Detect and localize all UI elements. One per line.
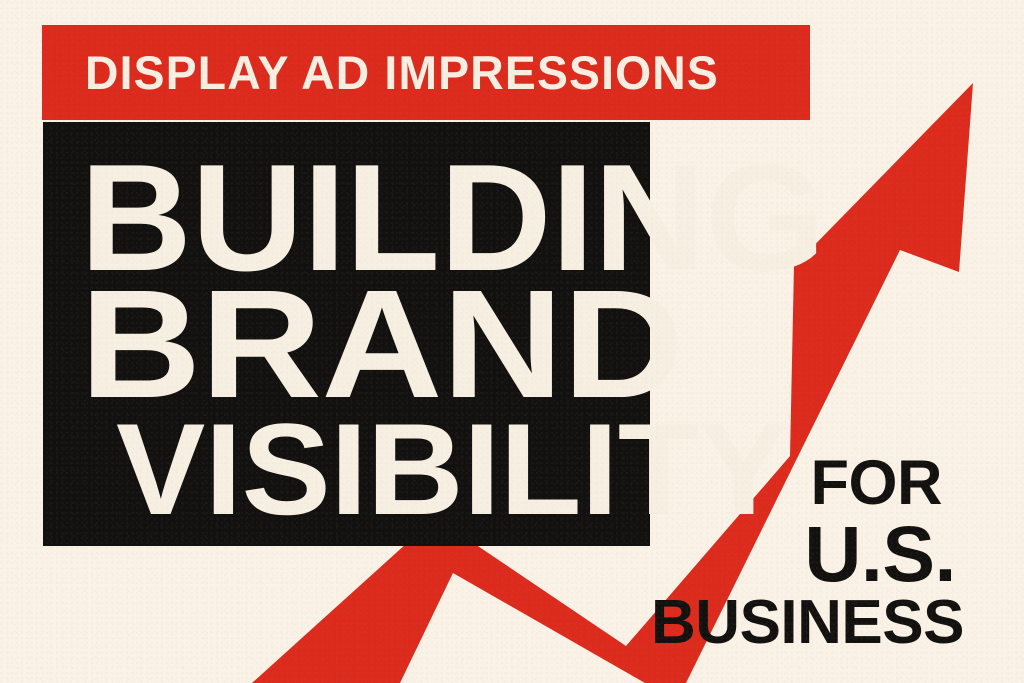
poster-canvas: DISPLAY AD IMPRESSIONS BUILDING BRAND VI… [0, 0, 1024, 683]
eyebrow-label: DISPLAY AD IMPRESSIONS [85, 25, 775, 120]
kicker-line-for: FOR [651, 453, 942, 513]
kicker-line-business: BUSINESS [651, 593, 964, 653]
kicker-block: FOR U.S. BUSINESS [651, 453, 964, 653]
kicker-line-us: U.S. [651, 516, 956, 592]
